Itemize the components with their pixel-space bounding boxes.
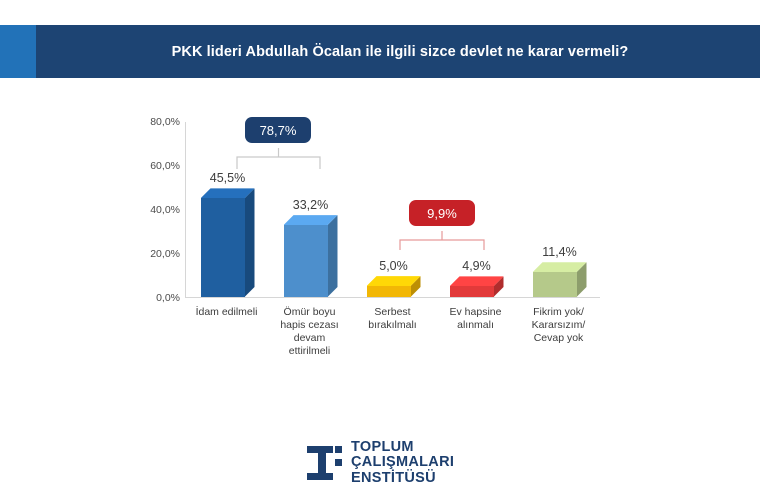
- y-tick-label: 40,0%: [128, 204, 180, 216]
- header-accent-bar: [0, 25, 36, 78]
- institute-monogram-icon: [305, 443, 345, 483]
- x-category-label-line: Kararsızım/: [517, 319, 600, 332]
- institute-logo: TOPLUM ÇALIŞMALARI ENSTİTÜSÜ: [305, 437, 485, 489]
- summary-badge-red: 9,9%: [409, 200, 475, 226]
- bar: [367, 276, 421, 297]
- bar-side-face: [328, 215, 338, 297]
- y-tick-label: 20,0%: [128, 248, 180, 260]
- x-category-label-line: Cevap yok: [517, 332, 600, 345]
- x-category-label: İdam edilmeli: [185, 301, 268, 371]
- x-category-label: Ömür boyuhapis cezasıdevamettirilmeli: [268, 301, 351, 371]
- bar-front-face: [450, 286, 494, 297]
- x-category-label-line: ettirilmeli: [268, 345, 351, 358]
- bar-value-label: 33,2%: [276, 198, 346, 212]
- logo-line-3: ENSTİTÜSÜ: [351, 471, 454, 487]
- bar-front-face: [533, 272, 577, 297]
- x-category-label-line: hapis cezası: [268, 319, 351, 332]
- bar-front-face: [284, 225, 328, 297]
- y-tick-label: 80,0%: [128, 116, 180, 128]
- y-tick-label: 0,0%: [128, 292, 180, 304]
- x-category-label-line: bırakılmalı: [351, 319, 434, 332]
- x-category-label-line: Serbest: [351, 306, 434, 319]
- x-category-label-line: Ömür boyu: [268, 306, 351, 319]
- page-title: PKK lideri Abdullah Öcalan ile ilgili si…: [60, 25, 740, 78]
- institute-logo-text: TOPLUM ÇALIŞMALARI ENSTİTÜSÜ: [351, 440, 454, 487]
- bar-side-face: [245, 188, 255, 297]
- logo-line-2: ÇALIŞMALARI: [351, 455, 454, 471]
- bar: [450, 276, 504, 297]
- bar: [201, 188, 255, 297]
- x-category-label: Fikrim yok/Kararsızım/Cevap yok: [517, 301, 600, 371]
- summary-badge-navy: 78,7%: [245, 117, 311, 143]
- x-category-label-line: devam: [268, 332, 351, 345]
- bar-front-face: [367, 286, 411, 297]
- logo-line-1: TOPLUM: [351, 440, 454, 456]
- x-category-label: Serbestbırakılmalı: [351, 301, 434, 371]
- x-category-label-line: alınmalı: [434, 319, 517, 332]
- x-axis-labels: İdam edilmeli Ömür boyuhapis cezasıdevam…: [185, 301, 600, 371]
- x-category-label-line: İdam edilmeli: [185, 306, 268, 319]
- x-category-label-line: Fikrim yok/: [517, 306, 600, 319]
- x-category-label: Ev hapsinealınmalı: [434, 301, 517, 371]
- x-category-label-line: Ev hapsine: [434, 306, 517, 319]
- bar-value-label: 11,4%: [525, 245, 595, 259]
- bar: [284, 215, 338, 297]
- bar-value-label: 4,9%: [442, 259, 512, 273]
- bar: [533, 262, 587, 297]
- bar-value-label: 5,0%: [359, 259, 429, 273]
- bar-value-label: 45,5%: [193, 171, 263, 185]
- bar-chart: 80,0% 60,0% 40,0% 20,0% 0,0% 45,5%33,2%5…: [0, 95, 760, 385]
- plot-area: 45,5%33,2%5,0%4,9%11,4%: [185, 122, 600, 298]
- bar-front-face: [201, 198, 245, 297]
- y-tick-label: 60,0%: [128, 160, 180, 172]
- y-axis: 80,0% 60,0% 40,0% 20,0% 0,0%: [125, 122, 180, 298]
